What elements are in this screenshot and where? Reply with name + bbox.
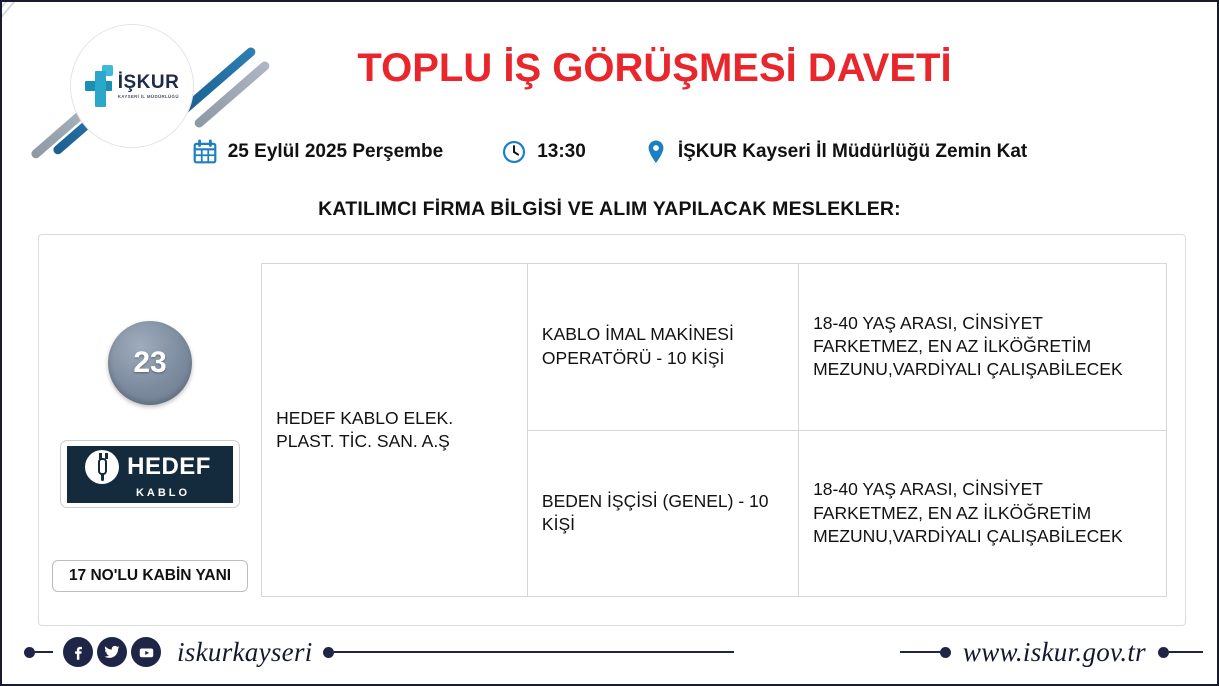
- logo-subtitle: KAYSERİ İL MÜDÜRLÜĞÜ: [118, 95, 180, 99]
- footer-dot-left: [24, 647, 35, 658]
- clock-icon: [501, 139, 527, 165]
- poster-root: İŞKUR KAYSERİ İL MÜDÜRLÜĞÜ TOPLU İŞ GÖRÜ…: [0, 0, 1219, 686]
- job-title-cell: BEDEN İŞÇİSİ (GENEL) - 10 KİŞİ: [527, 430, 798, 597]
- event-location-text: İŞKUR Kayseri İl Müdürlüğü Zemin Kat: [678, 141, 1027, 163]
- calendar-icon: [192, 139, 218, 165]
- job-requirements-cell: 18-40 YAŞ ARASI, CİNSİYET FARKETMEZ, EN …: [799, 430, 1167, 597]
- footer-dot-right-a: [940, 647, 951, 658]
- iskur-logo: İŞKUR KAYSERİ İL MÜDÜRLÜĞÜ: [70, 24, 194, 148]
- section-subtitle: KATILIMCI FİRMA BİLGİSİ VE ALIM YAPILACA…: [2, 198, 1217, 221]
- cabin-tag: 17 NO'LU KABİN YANI: [52, 560, 248, 592]
- footer-line-left: [35, 651, 53, 653]
- facebook-icon[interactable]: [63, 637, 93, 667]
- content-card: 23 HEDEF KABLO 17 NO'LU KABİN YANI: [38, 234, 1186, 626]
- event-time: 13:30: [501, 139, 586, 165]
- website-url: www.iskur.gov.tr: [963, 637, 1146, 668]
- company-logo-word: HEDEF: [127, 455, 211, 479]
- youtube-icon[interactable]: [131, 637, 161, 667]
- jobs-table: HEDEF KABLO ELEK. PLAST. TİC. SAN. A.Ş K…: [261, 263, 1167, 597]
- footer: iskurkayseri www.iskur.gov.tr: [2, 628, 1217, 676]
- footer-line-right-a: [900, 651, 940, 653]
- event-date: 25 Eylül 2025 Perşembe: [192, 139, 443, 165]
- company-logo: HEDEF KABLO: [60, 440, 240, 508]
- company-name-cell: HEDEF KABLO ELEK. PLAST. TİC. SAN. A.Ş: [262, 264, 528, 597]
- job-requirements-cell: 18-40 YAŞ ARASI, CİNSİYET FARKETMEZ, EN …: [799, 264, 1167, 431]
- event-location: İŞKUR Kayseri İl Müdürlüğü Zemin Kat: [644, 139, 1027, 165]
- logo-title: İŞKUR: [118, 73, 180, 92]
- footer-dot-mid: [323, 647, 334, 658]
- status-badge: 23: [108, 321, 192, 405]
- footer-line-mid: [334, 651, 734, 653]
- job-title-cell: KABLO İMAL MAKİNESİ OPERATÖRÜ - 10 KİŞİ: [527, 264, 798, 431]
- plug-icon: [85, 450, 119, 484]
- social-handle: iskurkayseri: [177, 637, 313, 668]
- table-row: HEDEF KABLO ELEK. PLAST. TİC. SAN. A.Ş K…: [262, 264, 1167, 431]
- event-meta-row: 25 Eylül 2025 Perşembe 13:30 İŞKUR Kayse…: [2, 139, 1217, 165]
- event-date-text: 25 Eylül 2025 Perşembe: [228, 141, 443, 163]
- footer-line-right-b: [1169, 651, 1203, 653]
- company-logo-subword: KABLO: [136, 487, 190, 499]
- iskur-mark-icon: [85, 65, 115, 107]
- map-pin-icon: [644, 139, 668, 165]
- footer-dot-right-b: [1158, 647, 1169, 658]
- company-panel: 23 HEDEF KABLO 17 NO'LU KABİN YANI: [39, 235, 261, 625]
- twitter-icon[interactable]: [97, 637, 127, 667]
- event-time-text: 13:30: [537, 141, 586, 163]
